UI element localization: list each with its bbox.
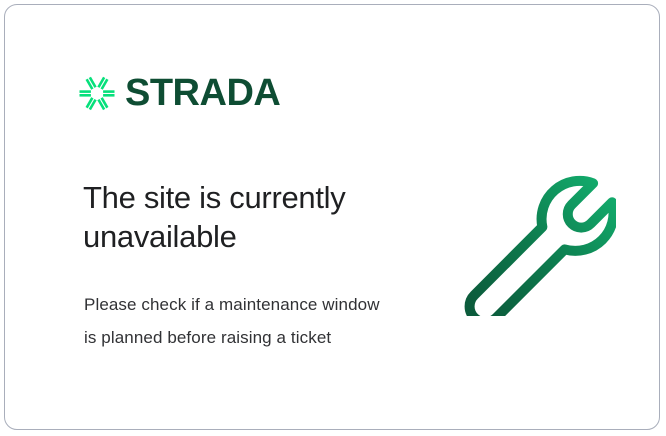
brand-logo: STRADA <box>79 71 280 115</box>
brand-wordmark: STRADA <box>125 74 280 112</box>
page-description: Please check if a maintenance window is … <box>84 288 394 354</box>
status-card: STRADA The site is currently unavailable… <box>4 4 660 430</box>
error-page: STRADA The site is currently unavailable… <box>0 0 666 436</box>
strada-asterisk-icon <box>79 75 115 111</box>
wrench-icon <box>460 160 616 316</box>
page-title: The site is currently unavailable <box>83 178 413 256</box>
